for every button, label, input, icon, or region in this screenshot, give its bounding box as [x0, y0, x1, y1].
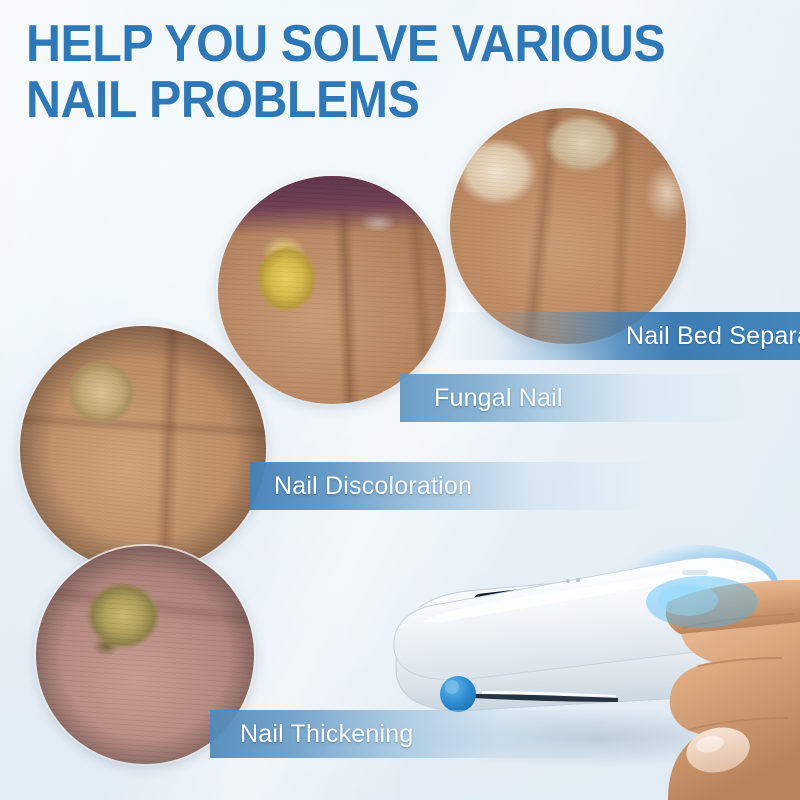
laser-treatment-device: [382, 498, 800, 800]
uv-light-bloom: [586, 544, 778, 624]
device-cavity: [470, 566, 730, 624]
thumb-nail-shine: [695, 733, 726, 754]
device-led-dot-1: [566, 579, 570, 583]
label-fungal-nail: Fungal Nail: [400, 374, 750, 422]
label-nail-thickening-text: Nail Thickening: [240, 720, 413, 749]
uv-glow-on-finger-core: [658, 584, 718, 616]
photo-nail-bed-separation-texture: [450, 108, 686, 344]
device-shadow: [417, 708, 777, 768]
photo-nail-discoloration-texture: [20, 326, 266, 572]
device-lid-highlight: [422, 567, 756, 622]
photo-nail-thickening-texture: [36, 546, 254, 764]
power-button: [440, 676, 476, 712]
label-nail-discoloration-text: Nail Discoloration: [274, 472, 472, 501]
headline-line-1: HELP YOU SOLVE VARIOUS: [26, 16, 714, 72]
device-lower-notch: [402, 604, 440, 640]
device-probe-needle: [472, 694, 618, 702]
label-nail-thickening: Nail Thickening: [210, 710, 610, 758]
thumb-nail: [682, 722, 754, 778]
label-fungal-nail-text: Fungal Nail: [434, 384, 563, 413]
photo-nail-bed-separation: [450, 108, 686, 344]
hand: [668, 584, 800, 800]
product-banner: HELP YOU SOLVE VARIOUS NAIL PROBLEMS: [0, 0, 800, 800]
device-probe-shine: [482, 691, 616, 697]
device-indicator-slot: [682, 570, 708, 575]
photo-nail-thickening: [36, 546, 254, 764]
hand-crease-3: [682, 614, 794, 628]
label-nail-discoloration: Nail Discoloration: [250, 462, 650, 510]
device-upper-shell: [394, 558, 779, 680]
uv-light-glow: [524, 564, 733, 620]
device-lower-shell: [396, 572, 764, 711]
index-finger: [666, 580, 800, 634]
photo-nail-discoloration: [20, 326, 266, 572]
hand-crease-2: [688, 718, 788, 730]
hand-crease-1: [698, 658, 782, 666]
uv-glow-on-finger: [646, 576, 758, 628]
device-sensor-dot: [737, 589, 743, 595]
power-button-highlight: [445, 680, 459, 694]
device-led-dot-2: [576, 578, 580, 582]
